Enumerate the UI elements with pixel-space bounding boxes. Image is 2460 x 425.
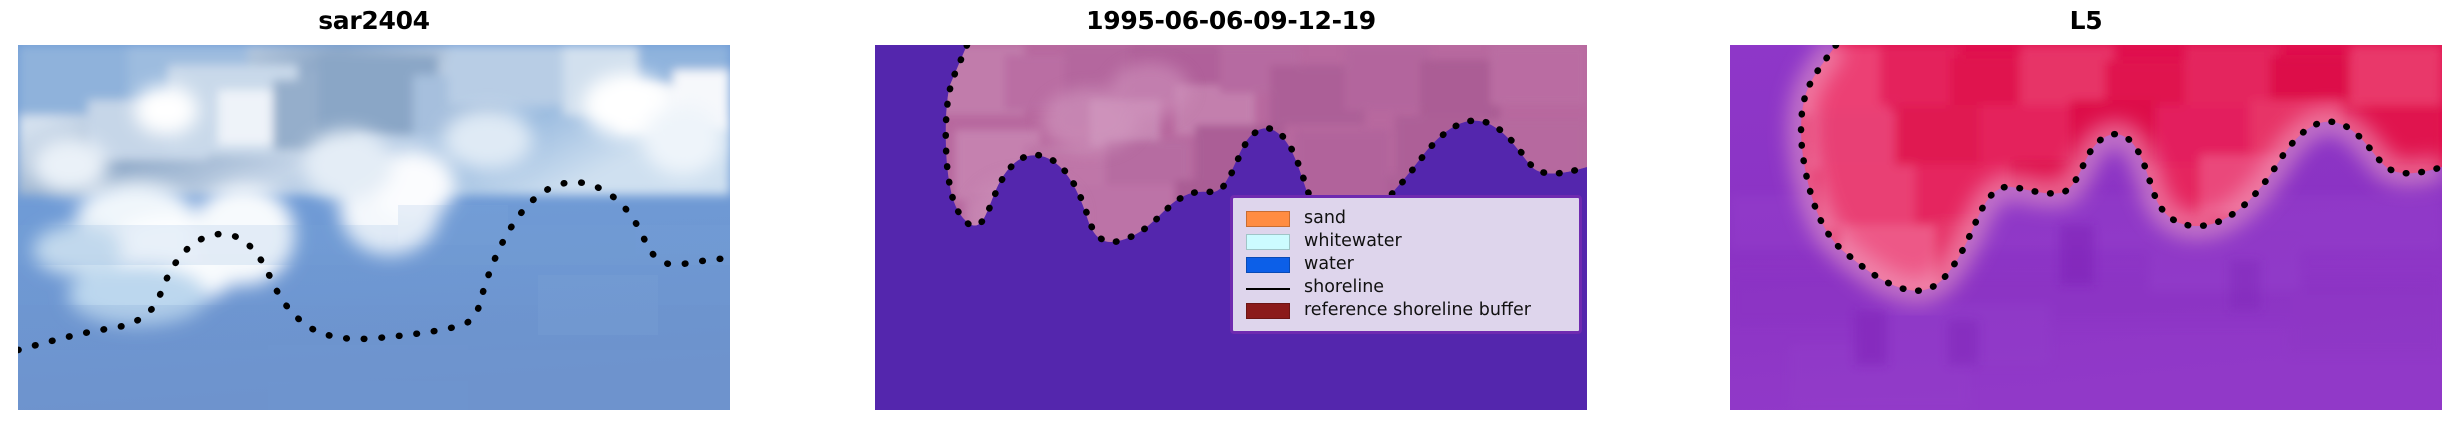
legend-label-sand: sand [1304,207,1346,230]
legend-item-sand[interactable]: sand [1246,207,1567,230]
legend-item-shoreline[interactable]: shoreline [1246,276,1567,299]
figure-canvas: sar2404 [0,0,2460,425]
sar-image [18,45,730,410]
legend-label-water: water [1304,253,1354,276]
legend-label-whitewater: whitewater [1304,230,1402,253]
legend-item-water[interactable]: water [1246,253,1567,276]
legend-label-shoreline: shoreline [1304,276,1384,299]
legend-label-reference-buffer: reference shoreline buffer [1304,299,1531,322]
panel-title-sar2404: sar2404 [18,4,730,38]
shoreline-line-icon [1246,280,1290,296]
image-axes-l5[interactable] [1730,45,2442,410]
panel-sar2404: sar2404 [18,0,730,425]
water-swatch-icon [1246,257,1290,273]
image-axes-sar2404[interactable] [18,45,730,410]
panel-title-l5: L5 [1730,4,2442,38]
legend-box[interactable]: sand whitewater water shoreline referenc… [1230,195,1582,334]
legend-item-whitewater[interactable]: whitewater [1246,230,1567,253]
panel-title-date: 1995-06-06-09-12-19 [875,4,1587,38]
whitewater-swatch-icon [1246,234,1290,250]
legend-item-reference-shoreline-buffer[interactable]: reference shoreline buffer [1246,299,1567,322]
panel-l5: L5 [1730,0,2442,425]
l5-image [1730,45,2442,410]
panel-1995-06-06-09-12-19: 1995-06-06-09-12-19 [875,0,1587,425]
sand-swatch-icon [1246,211,1290,227]
reference-buffer-swatch-icon [1246,303,1290,319]
